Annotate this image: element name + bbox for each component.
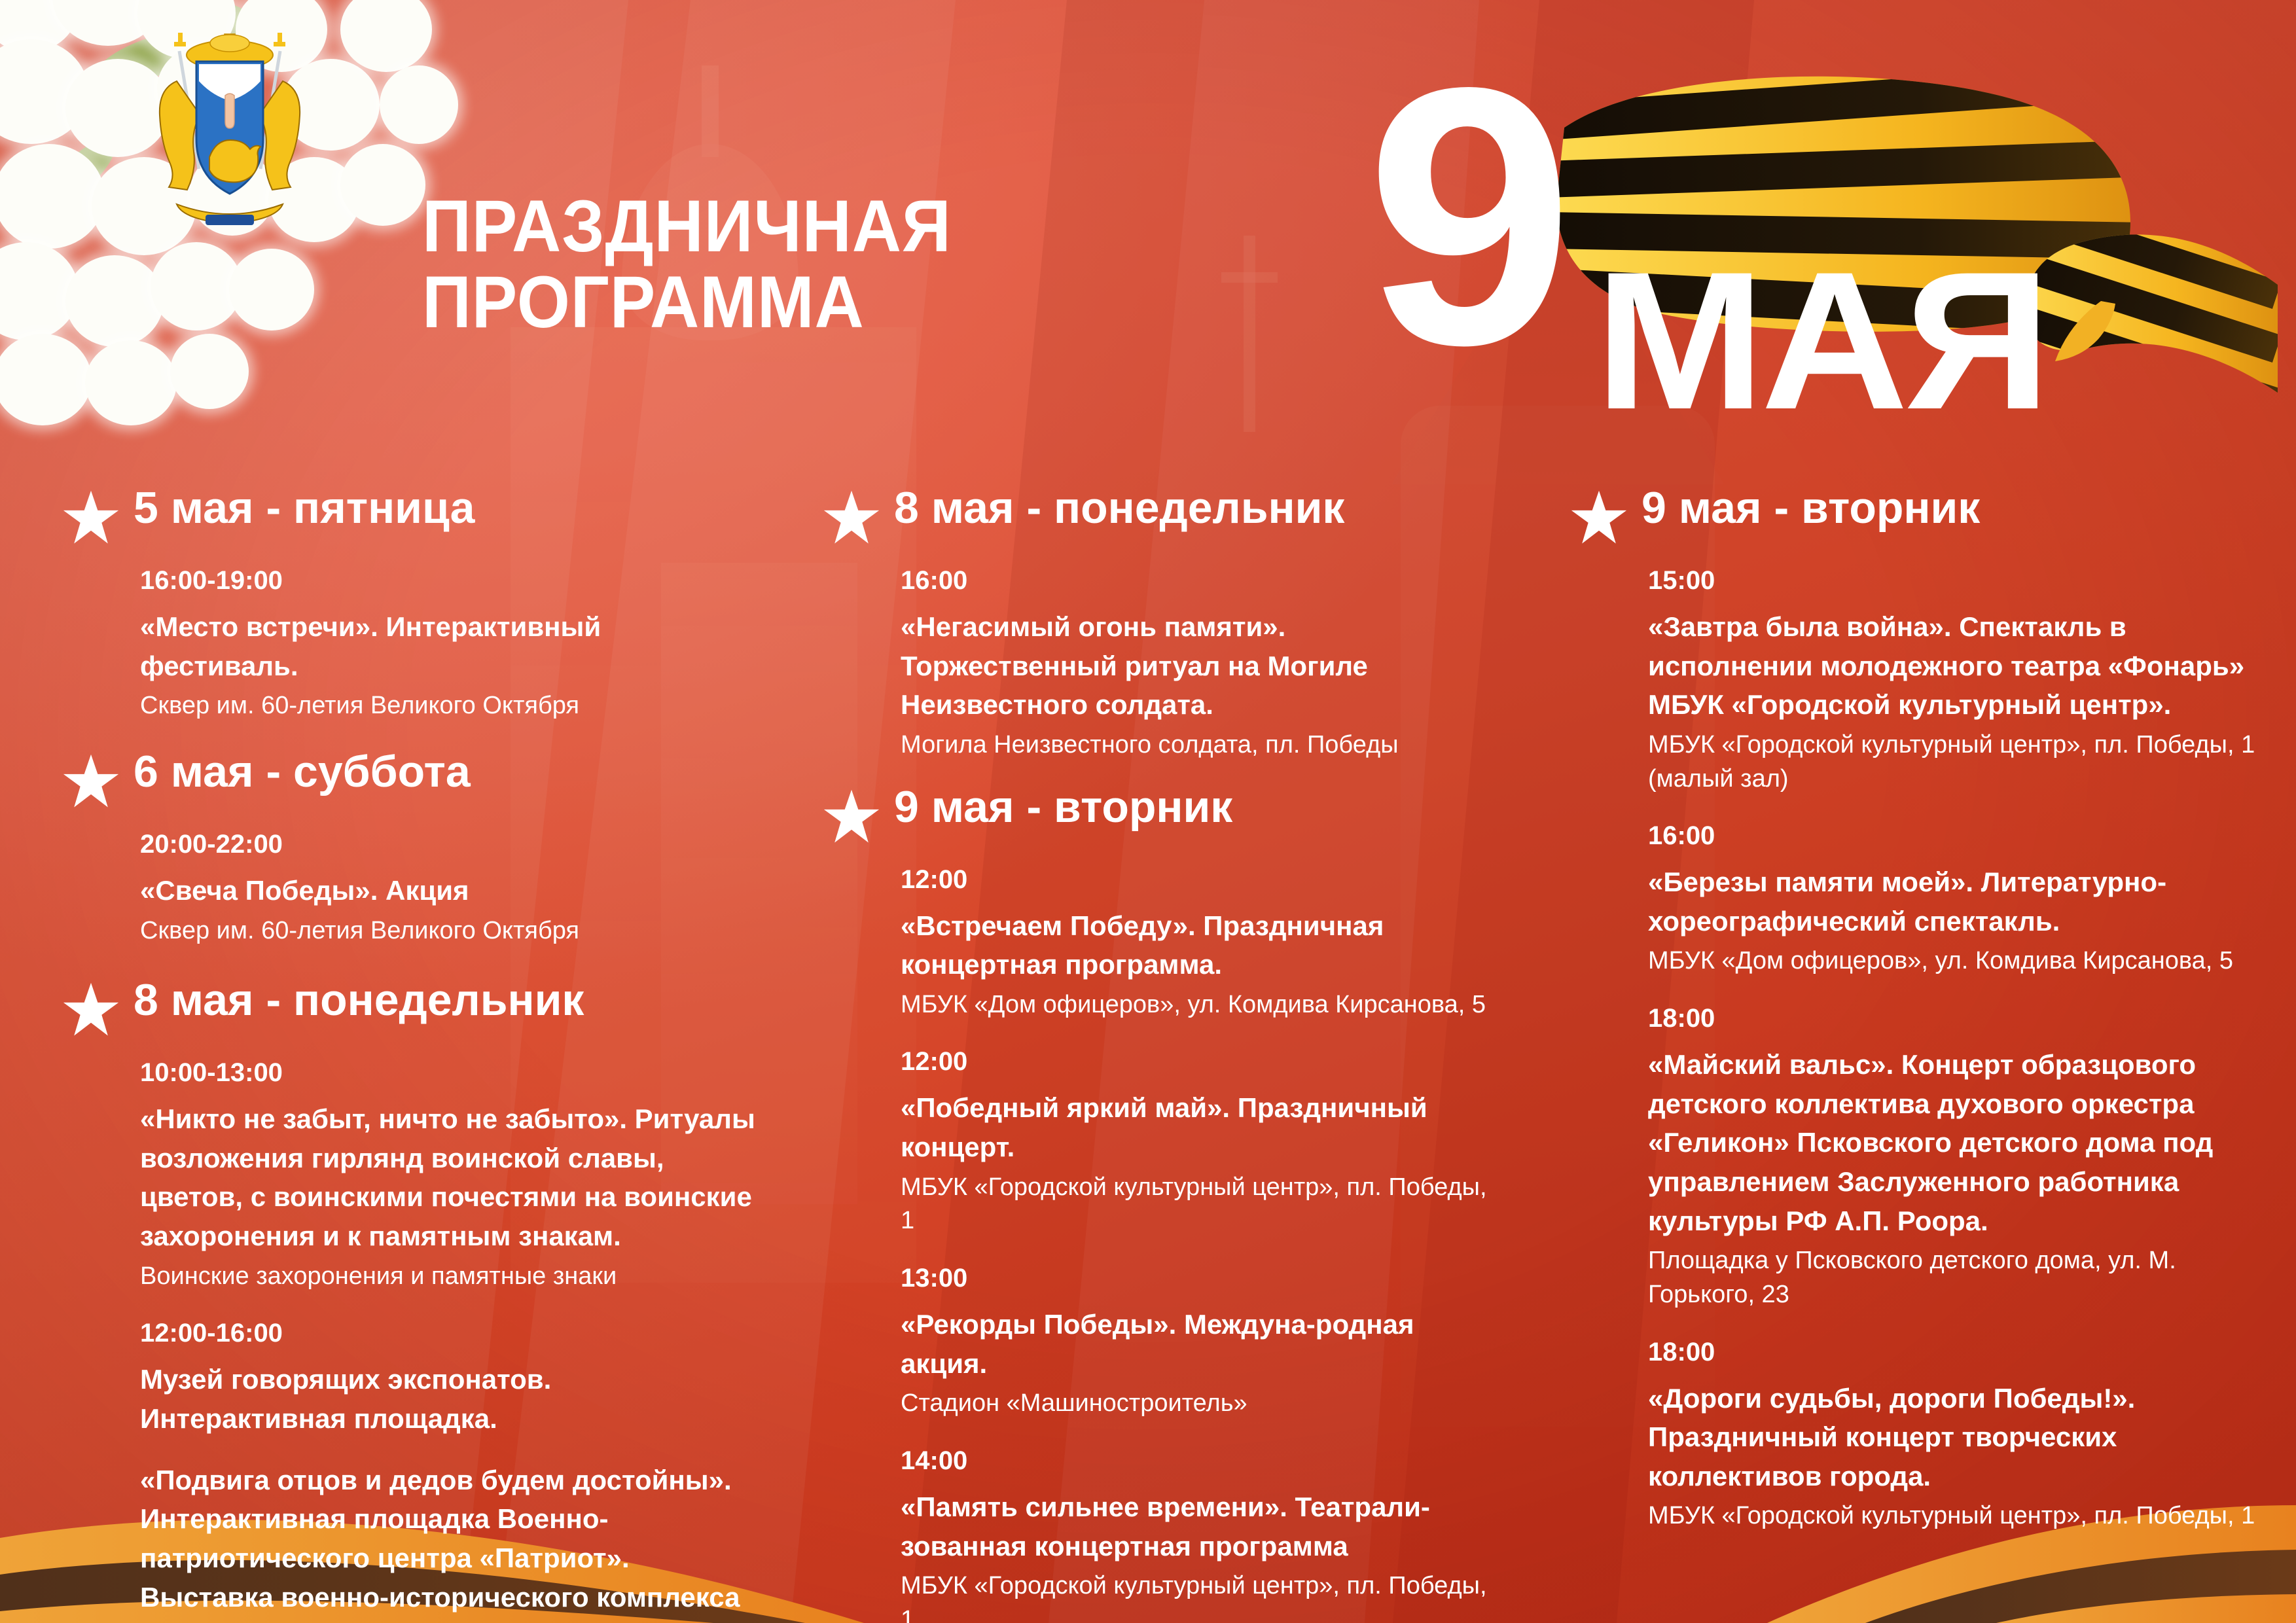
event-time: 20:00-22:00 bbox=[140, 827, 757, 862]
event-name: «Майский вальс». Концерт образцового дет… bbox=[1648, 1045, 2265, 1240]
event-time: 16:00 bbox=[1648, 818, 2265, 853]
event-name: Музей говорящих экспонатов. Интерактивна… bbox=[140, 1360, 757, 1438]
event-time: 13:00 bbox=[901, 1260, 1498, 1296]
event-item: 16:00-19:00 «Место встречи». Интерактивн… bbox=[140, 563, 757, 723]
event-place: Могила Неизвестного солдата, пл. Победы bbox=[901, 728, 1498, 762]
day-title: 6 мая - суббота bbox=[134, 749, 471, 794]
program-column-2: 8 мая - понедельник 16:00 «Негасимый ого… bbox=[823, 486, 1498, 1623]
day-header: 9 мая - вторник bbox=[1571, 486, 2265, 546]
day-title: 9 мая - вторник bbox=[1641, 486, 1980, 530]
event-name: «Негасимый огонь памяти». Торжественный … bbox=[901, 607, 1498, 724]
event-name: «Память сильнее времени». Театрали-зован… bbox=[901, 1488, 1498, 1565]
day-title: 8 мая - понедельник bbox=[134, 978, 584, 1022]
event-time: 16:00 bbox=[901, 563, 1498, 598]
event-time: 10:00-13:00 bbox=[140, 1055, 757, 1090]
event-time: 14:00 bbox=[901, 1443, 1498, 1478]
event-time: 15:00 bbox=[1648, 563, 2265, 598]
event-item: 12:00-16:00 Музей говорящих экспонатов. … bbox=[140, 1315, 757, 1438]
event-name: «Дороги судьбы, дороги Победы!». Праздни… bbox=[1648, 1379, 2265, 1496]
day-header: 6 мая - суббота bbox=[63, 749, 757, 810]
day-title: 9 мая - вторник bbox=[894, 785, 1232, 829]
event-item: 13:00 «Рекорды Победы». Междуна-родная а… bbox=[901, 1260, 1498, 1421]
event-place: МБУК «Городской культурный центр», пл. П… bbox=[1648, 728, 2265, 796]
day-header: 9 мая - вторник bbox=[823, 785, 1498, 845]
star-icon bbox=[823, 789, 880, 845]
event-place: Сквер им. 60-летия Великого Октября bbox=[140, 914, 757, 948]
event-item: 20:00-22:00 «Свеча Победы». Акция Сквер … bbox=[140, 827, 757, 948]
event-time: 18:00 bbox=[1648, 1001, 2265, 1036]
event-item: 16:00 «Березы памяти моей». Литературно-… bbox=[1648, 818, 2265, 978]
event-place: МБУК «Городской культурный центр», пл. П… bbox=[901, 1171, 1498, 1238]
event-item: 18:00 «Дороги судьбы, дороги Победы!». П… bbox=[1648, 1334, 2265, 1534]
star-icon bbox=[823, 490, 880, 546]
logo-month-may: МАЯ bbox=[1595, 242, 2047, 438]
event-item: 14:00 «Память сильнее времени». Театрали… bbox=[901, 1443, 1498, 1623]
event-place: МБУК «Дом офицеров», ул. Комдива Кирсано… bbox=[901, 988, 1498, 1022]
event-item: «Подвига отцов и дедов будем достойны». … bbox=[140, 1461, 757, 1623]
event-name: «Встречаем Победу». Праздничная концертн… bbox=[901, 906, 1498, 984]
event-time: 12:00 bbox=[901, 1044, 1498, 1079]
event-time: 12:00 bbox=[901, 862, 1498, 897]
event-place: МБУК «Городской культурный центр», пл. П… bbox=[1648, 1499, 2265, 1533]
event-time: 12:00-16:00 bbox=[140, 1315, 757, 1351]
event-place: Сквер им. 60-летия Великого Октября bbox=[140, 689, 757, 723]
event-name: «Место встречи». Интерактивный фестиваль… bbox=[140, 607, 757, 685]
star-icon bbox=[63, 490, 119, 546]
event-item: 16:00 «Негасимый огонь памяти». Торжеств… bbox=[901, 563, 1498, 762]
event-name: «Свеча Победы». Акция bbox=[140, 871, 757, 910]
program-column-3: 9 мая - вторник 15:00 «Завтра была война… bbox=[1571, 486, 2265, 1556]
event-place: Площадка у Псковского детского дома, ул.… bbox=[1648, 1244, 2265, 1311]
event-item: 12:00 «Встречаем Победу». Праздничная ко… bbox=[901, 862, 1498, 1022]
day-header: 5 мая - пятница bbox=[63, 486, 757, 546]
event-name: «Победный яркий май». Праздничный концер… bbox=[901, 1088, 1498, 1166]
poster-root: ПРАЗДНИЧНАЯ ПРОГРАММА bbox=[0, 0, 2296, 1623]
star-icon bbox=[63, 753, 119, 810]
event-place: Стадион «Машиностроитель» bbox=[901, 1387, 1498, 1421]
event-time: 16:00-19:00 bbox=[140, 563, 757, 598]
event-name: «Завтра была война». Спектакль в исполне… bbox=[1648, 607, 2265, 724]
event-time: 18:00 bbox=[1648, 1334, 2265, 1370]
event-name: «Рекорды Победы». Междуна-родная акция. bbox=[901, 1305, 1498, 1383]
event-name: «Березы памяти моей». Литературно-хореог… bbox=[1648, 863, 2265, 940]
logo-number-9: 9 bbox=[1366, 33, 1574, 399]
event-place: МБУК «Дом офицеров», ул. Комдива Кирсано… bbox=[1648, 944, 2265, 978]
event-item: 10:00-13:00 «Никто не забыт, ничто не за… bbox=[140, 1055, 757, 1293]
day-header: 8 мая - понедельник bbox=[823, 486, 1498, 546]
day-header: 8 мая - понедельник bbox=[63, 978, 757, 1038]
day-title: 5 мая - пятница bbox=[134, 486, 475, 530]
event-name: «Подвига отцов и дедов будем достойны». … bbox=[140, 1461, 757, 1623]
event-item: 12:00 «Победный яркий май». Праздничный … bbox=[901, 1044, 1498, 1238]
program-column-1: 5 мая - пятница 16:00-19:00 «Место встре… bbox=[63, 486, 757, 1623]
star-icon bbox=[1571, 490, 1627, 546]
event-name: «Никто не забыт, ничто не забыто». Ритуа… bbox=[140, 1099, 757, 1256]
event-place: Воинские захоронения и памятные знаки bbox=[140, 1260, 757, 1294]
star-icon bbox=[63, 982, 119, 1038]
day-title: 8 мая - понедельник bbox=[894, 486, 1344, 530]
event-place: МБУК «Городской культурный центр», пл. П… bbox=[901, 1569, 1498, 1623]
event-item: 15:00 «Завтра была война». Спектакль в и… bbox=[1648, 563, 2265, 796]
event-item: 18:00 «Майский вальс». Концерт образцово… bbox=[1648, 1001, 2265, 1311]
